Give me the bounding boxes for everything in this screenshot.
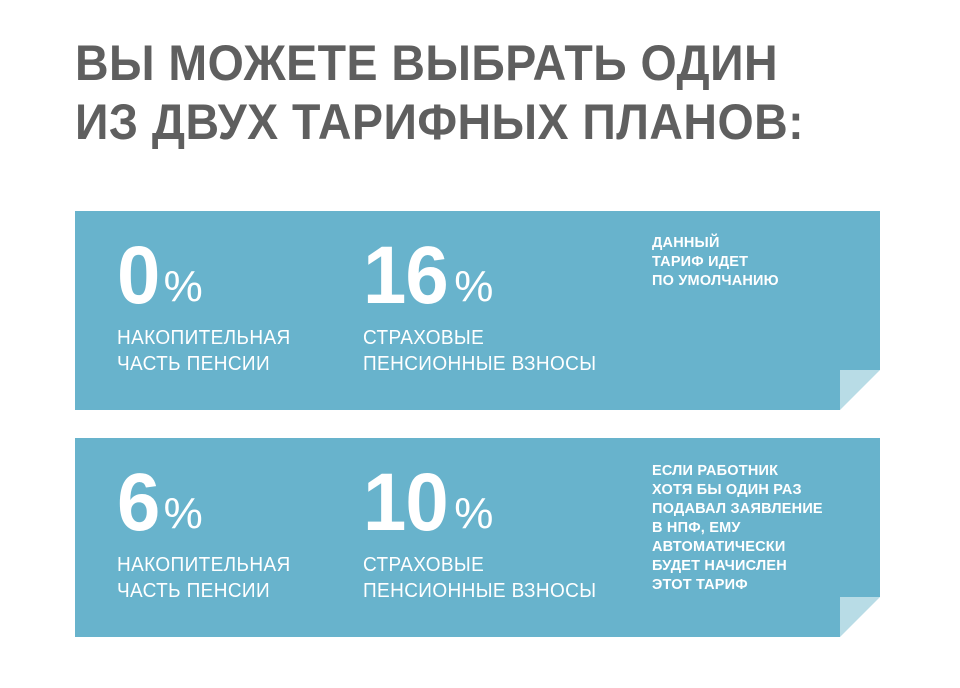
stat-number: 16 — [363, 237, 448, 315]
stat-caption: СТРАХОВЫЕ ПЕНСИОННЫЕ ВЗНОСЫ — [363, 325, 596, 377]
plan-note-line: ЭТОТ ТАРИФ — [652, 576, 872, 595]
plan-card-default[interactable]: 0 % НАКОПИТЕЛЬНАЯ ЧАСТЬ ПЕНСИИ 16 % СТРА… — [75, 211, 880, 410]
page-title-line-2: ИЗ ДВУХ ТАРИФНЫХ ПЛАНОВ: — [75, 93, 856, 152]
plan-note: ДАННЫЙ ТАРИФ ИДЕТ ПО УМОЛЧАНИЮ — [652, 234, 872, 291]
stat-caption-line-1: НАКОПИТЕЛЬНАЯ — [117, 327, 291, 349]
stat-block-accumulative: 6 % НАКОПИТЕЛЬНАЯ ЧАСТЬ ПЕНСИИ — [117, 464, 300, 604]
page-title: ВЫ МОЖЕТЕ ВЫБРАТЬ ОДИН ИЗ ДВУХ ТАРИФНЫХ … — [75, 34, 915, 152]
percent-sign: % — [454, 492, 493, 542]
plan-note: ЕСЛИ РАБОТНИК ХОТЯ БЫ ОДИН РАЗ ПОДАВАЛ З… — [652, 462, 872, 595]
stat-caption-line-2: ПЕНСИОННЫЕ ВЗНОСЫ — [363, 580, 596, 602]
stat-number: 6 — [117, 464, 159, 542]
stat-caption: СТРАХОВЫЕ ПЕНСИОННЫЕ ВЗНОСЫ — [363, 552, 596, 604]
percent-sign: % — [164, 492, 203, 542]
stat-number: 0 — [117, 237, 159, 315]
stat-caption-line-2: ЧАСТЬ ПЕНСИИ — [117, 580, 270, 602]
plan-note-line: ДАННЫЙ — [652, 234, 872, 253]
stat-caption-line-1: СТРАХОВЫЕ — [363, 554, 484, 576]
plan-note-line: ТАРИФ ИДЕТ — [652, 253, 872, 272]
plan-card-npf[interactable]: 6 % НАКОПИТЕЛЬНАЯ ЧАСТЬ ПЕНСИИ 10 % СТРА… — [75, 438, 880, 637]
plan-note-line: АВТОМАТИЧЕСКИ — [652, 538, 872, 557]
plan-note-line: БУДЕТ НАЧИСЛЕН — [652, 557, 872, 576]
infographic-page: ВЫ МОЖЕТЕ ВЫБРАТЬ ОДИН ИЗ ДВУХ ТАРИФНЫХ … — [0, 0, 960, 688]
stat-value: 16 % — [363, 237, 609, 315]
stat-caption: НАКОПИТЕЛЬНАЯ ЧАСТЬ ПЕНСИИ — [117, 325, 291, 377]
stat-caption-line-2: ЧАСТЬ ПЕНСИИ — [117, 353, 270, 375]
stat-block-insurance: 16 % СТРАХОВЫЕ ПЕНСИОННЫЕ ВЗНОСЫ — [363, 237, 609, 377]
stat-caption-line-2: ПЕНСИОННЫЕ ВЗНОСЫ — [363, 353, 596, 375]
stat-value: 0 % — [117, 237, 300, 315]
stat-number: 10 — [363, 464, 448, 542]
stat-value: 10 % — [363, 464, 609, 542]
page-title-line-1: ВЫ МОЖЕТЕ ВЫБРАТЬ ОДИН — [75, 34, 856, 93]
stat-block-accumulative: 0 % НАКОПИТЕЛЬНАЯ ЧАСТЬ ПЕНСИИ — [117, 237, 300, 377]
stat-caption-line-1: СТРАХОВЫЕ — [363, 327, 484, 349]
stat-block-insurance: 10 % СТРАХОВЫЕ ПЕНСИОННЫЕ ВЗНОСЫ — [363, 464, 609, 604]
percent-sign: % — [454, 265, 493, 315]
plan-note-line: ХОТЯ БЫ ОДИН РАЗ — [652, 481, 872, 500]
plan-note-line: ЕСЛИ РАБОТНИК — [652, 462, 872, 481]
plan-note-line: ПО УМОЛЧАНИЮ — [652, 272, 872, 291]
stat-value: 6 % — [117, 464, 300, 542]
plan-note-line: В НПФ, ЕМУ — [652, 519, 872, 538]
percent-sign: % — [164, 265, 203, 315]
stat-caption: НАКОПИТЕЛЬНАЯ ЧАСТЬ ПЕНСИИ — [117, 552, 291, 604]
plan-note-line: ПОДАВАЛ ЗАЯВЛЕНИЕ — [652, 500, 872, 519]
stat-caption-line-1: НАКОПИТЕЛЬНАЯ — [117, 554, 291, 576]
